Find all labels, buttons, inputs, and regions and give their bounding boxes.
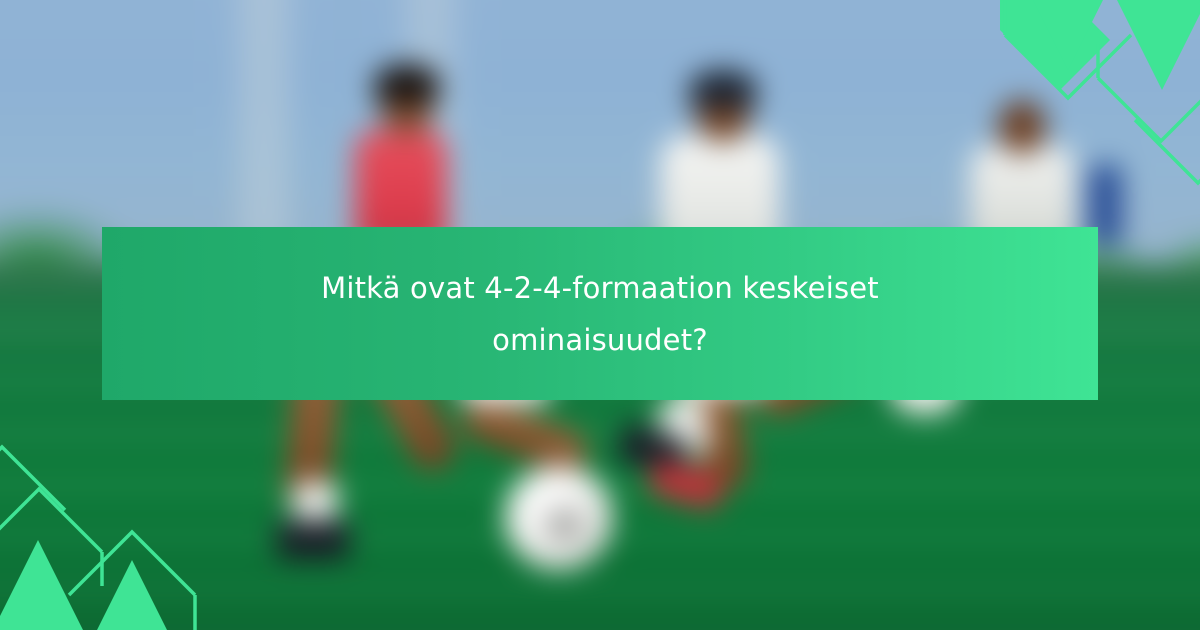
chevron-solid-1 [82,560,182,630]
player-red-hair [374,64,440,104]
question-banner: Mitkä ovat 4-2-4-formaation keskeiset om… [102,227,1098,400]
question-title: Mitkä ovat 4-2-4-formaation keskeiset om… [250,262,950,366]
soccer-ball-panel [545,508,583,542]
chevron-outline-3 [0,447,65,510]
chevron-solid-2 [0,540,88,630]
chevron-solid-2 [1112,0,1200,90]
chevron-pattern-top-right [1000,0,1200,200]
player-boot-front [276,520,350,560]
share-card: Mitkä ovat 4-2-4-formaation keskeiset om… [0,0,1200,630]
chevron-outline-3 [1135,120,1200,183]
player-white-hair [689,70,757,108]
chevron-pattern-bottom-left [0,430,200,630]
